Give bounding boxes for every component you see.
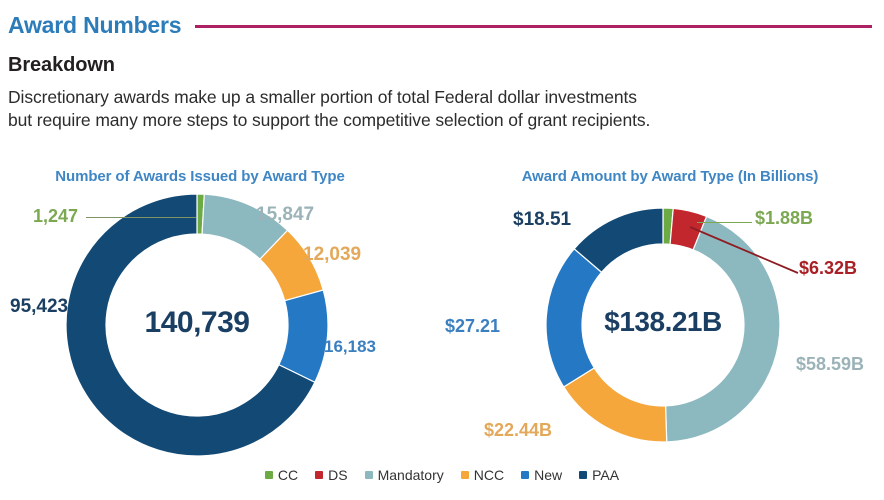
section-header: Award Numbers	[8, 8, 874, 42]
legend-item-ds[interactable]: DS	[315, 468, 347, 482]
legend-item-new[interactable]: New	[521, 468, 562, 482]
value-label-new-count: 16,183	[324, 338, 376, 355]
value-label-ncc-count: 12,039	[303, 245, 361, 264]
slide-canvas: Award Numbers Breakdown Discretionary aw…	[0, 0, 884, 500]
value-label-mandatory-count: 15,847	[256, 205, 314, 224]
legend-label-ds: DS	[328, 468, 347, 482]
value-label-cc-count: 1,247	[33, 207, 78, 225]
value-label-ds-amount: $6.32B	[799, 259, 857, 277]
legend-item-cc[interactable]: CC	[265, 468, 298, 482]
breakdown-description: Discretionary awards make up a smaller p…	[8, 86, 808, 133]
donut-center-total-awards-count: 140,739	[97, 306, 297, 340]
value-label-ncc-amount: $22.44B	[484, 421, 552, 439]
legend-label-new: New	[534, 468, 562, 482]
legend-swatch-icon-ncc	[461, 471, 469, 479]
legend-swatch-icon-new	[521, 471, 529, 479]
chart-legend: CCDSMandatoryNCCNewPAA	[0, 468, 884, 482]
legend-swatch-icon-paa	[579, 471, 587, 479]
header-divider-rule	[195, 25, 872, 28]
chart-title-awards-count: Number of Awards Issued by Award Type	[10, 168, 390, 185]
breakdown-heading: Breakdown	[8, 54, 115, 77]
value-label-cc-amount: $1.88B	[755, 209, 813, 227]
legend-label-paa: PAA	[592, 468, 619, 482]
leader-line-cc-count	[86, 217, 196, 218]
legend-item-paa[interactable]: PAA	[579, 468, 619, 482]
value-label-mandatory-amount: $58.59B	[796, 355, 864, 373]
page-title: Award Numbers	[8, 14, 181, 37]
value-label-new-amount: $27.21	[445, 317, 500, 335]
legend-item-mandatory[interactable]: Mandatory	[365, 468, 444, 482]
value-label-paa-count: 95,423	[10, 297, 68, 316]
description-line-2: but require many more steps to support t…	[8, 109, 808, 132]
leader-line-cc-amount	[697, 222, 752, 223]
legend-label-cc: CC	[278, 468, 298, 482]
description-line-1: Discretionary awards make up a smaller p…	[8, 86, 808, 109]
legend-swatch-icon-ds	[315, 471, 323, 479]
value-label-paa-amount: $18.51	[513, 210, 571, 229]
leader-line-ds-amount	[690, 225, 810, 285]
donut-center-total-awards-amount: $138.21B	[563, 306, 763, 338]
donut-slice-ncc	[564, 368, 667, 442]
chart-title-awards-amount: Award Amount by Award Type (In Billions)	[480, 168, 860, 185]
legend-swatch-icon-cc	[265, 471, 273, 479]
legend-label-ncc: NCC	[474, 468, 504, 482]
legend-item-ncc[interactable]: NCC	[461, 468, 504, 482]
legend-swatch-icon-mandatory	[365, 471, 373, 479]
legend-label-mandatory: Mandatory	[378, 468, 444, 482]
